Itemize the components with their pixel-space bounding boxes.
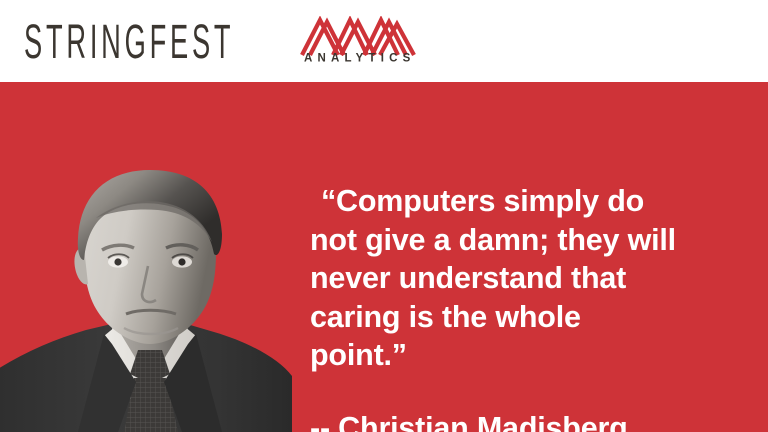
logo-wordmark: STRINGFEST (24, 17, 234, 65)
quote-line: caring is the whole (310, 298, 710, 337)
quote-block: “Computers simply do not give a damn; th… (310, 182, 710, 375)
logo-mark: ANALYTICS (300, 16, 418, 72)
stringfest-chevron-peaks-icon (300, 16, 418, 56)
logo-subtitle: ANALYTICS (304, 52, 416, 65)
quote-line: never understand that (310, 259, 710, 298)
red-content-panel: “Computers simply do not give a damn; th… (0, 82, 768, 432)
quote-line: not give a damn; they will (310, 221, 710, 260)
quote-line: point.” (310, 336, 710, 375)
quote-attribution: -- Christian Madjsberg (310, 409, 628, 432)
portrait-illustration (0, 82, 300, 432)
quote-line: “Computers simply do (310, 182, 710, 221)
header-band: STRINGFEST ANALYTICS (0, 0, 768, 82)
portrait-photo (0, 82, 300, 432)
quote-slide: STRINGFEST ANALYTICS (0, 0, 768, 432)
